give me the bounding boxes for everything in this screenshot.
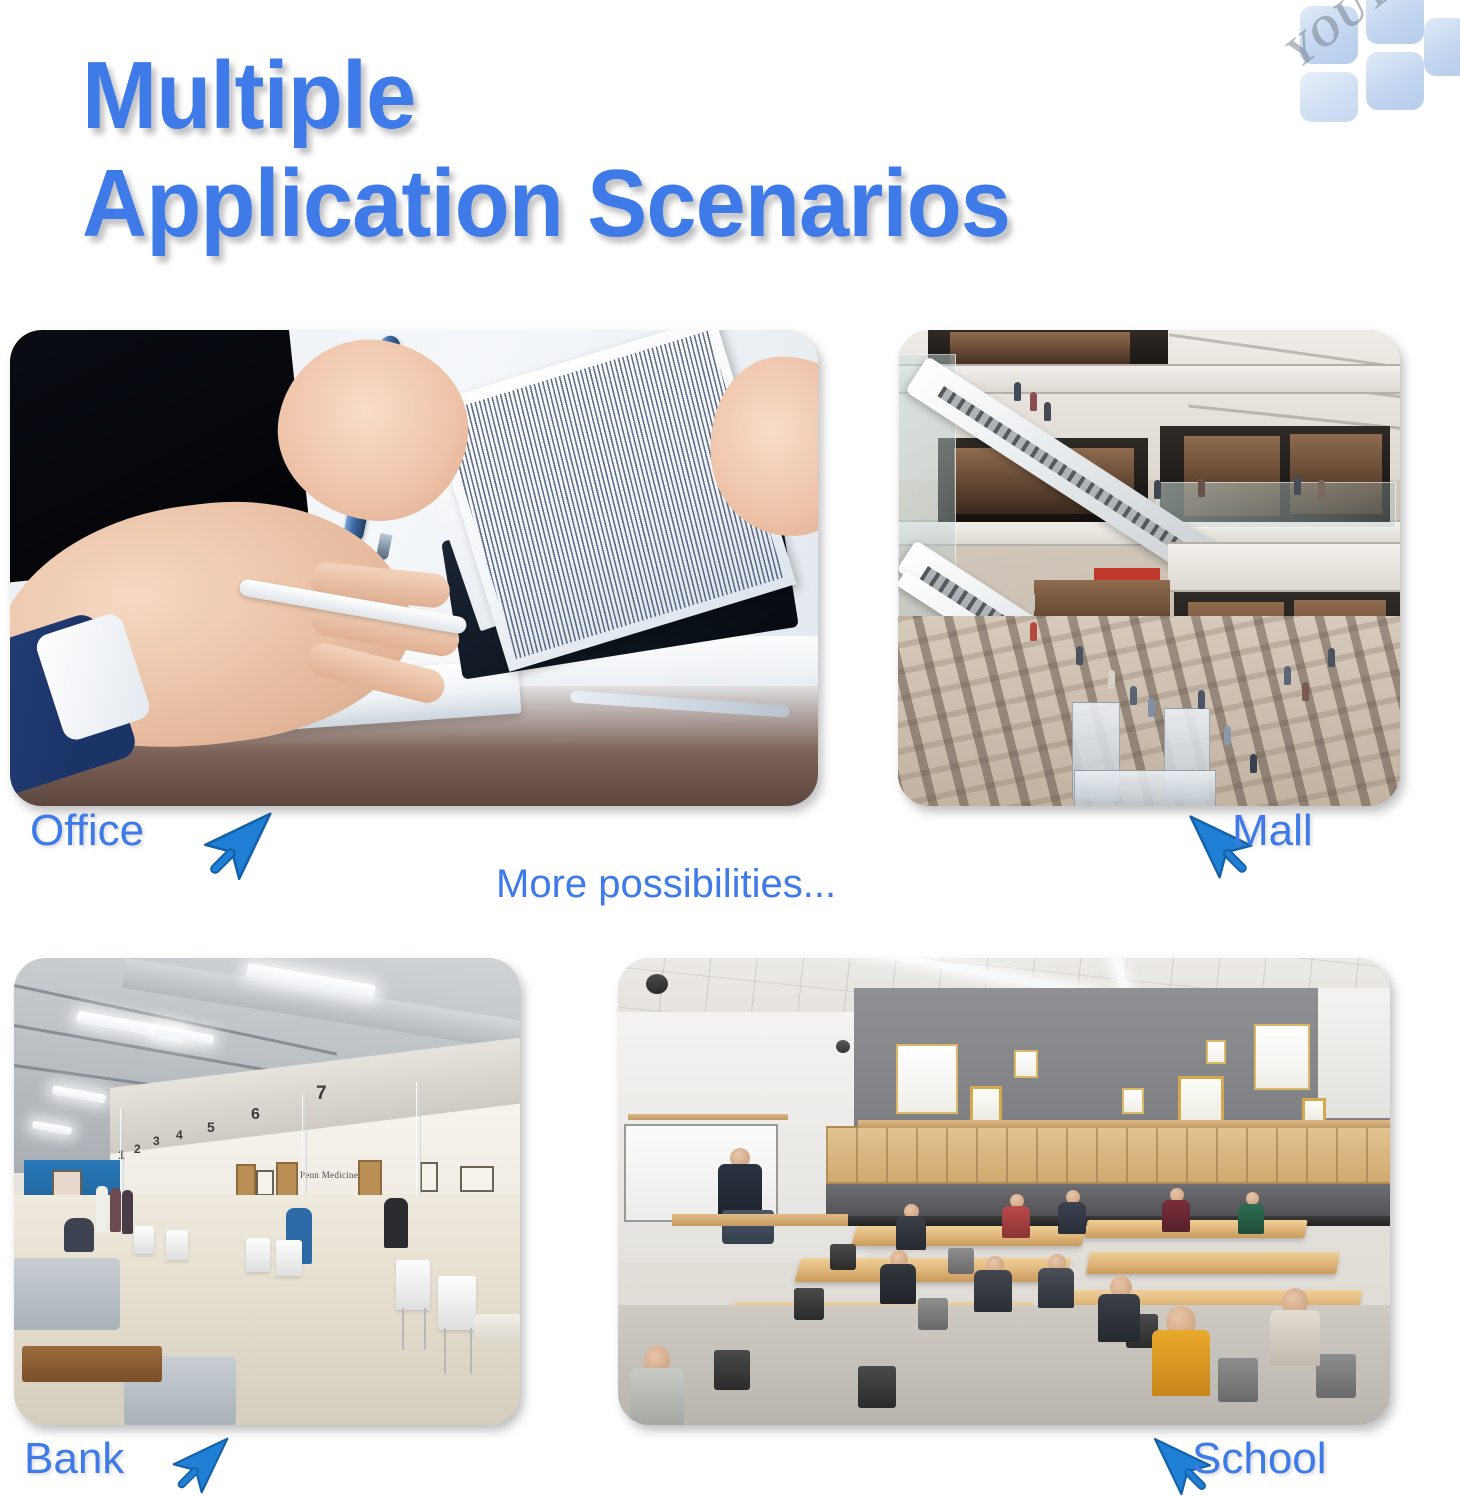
page-title-line-1: Multiple [82,42,1191,150]
tagline: More possibilities... [496,862,836,907]
window-number-3: 3 [153,1134,160,1148]
student [896,1216,926,1250]
page-title-line-2: Application Scenarios [82,150,1191,258]
watermark-square [1366,0,1424,44]
student-chair [918,1298,948,1330]
student-yellow-shirt [1152,1330,1210,1396]
penn-medicine-sign: Penn Medicine [300,1170,358,1180]
lab-table [852,1226,1087,1246]
wall-rail [628,1114,788,1120]
storage-cabinets [826,1126,1390,1186]
scenario-panel-bank[interactable]: 1 2 3 4 5 6 7 Penn Medicine [14,958,520,1425]
shopper [1318,480,1325,499]
scenario-label-office: Office [30,806,144,856]
shopper [1030,392,1037,411]
lounge-sofa [14,1258,120,1330]
wall-artwork [460,1166,494,1192]
cursor-bank [166,1424,242,1500]
wall-light-panel [1014,1050,1038,1078]
student [880,1264,916,1304]
infographic-page: YOUTOP Multiple Application Scenarios [0,0,1460,1500]
window-number-5: 5 [207,1119,215,1135]
waiting-chair [438,1276,476,1330]
bank-customer [122,1190,133,1234]
window-number-4: 4 [176,1128,183,1142]
watermark-square [1300,6,1358,64]
scenario-panel-school[interactable] [618,958,1390,1425]
waiting-chair [396,1260,430,1310]
scenario-label-school: School [1192,1434,1327,1484]
mall-photo [898,330,1400,806]
chair-leg [402,1308,404,1350]
window-number-2: 2 [134,1142,141,1156]
glass-railing-level2 [1156,482,1396,528]
student-chair [1218,1358,1258,1402]
student-chair [948,1248,974,1274]
page-title: Multiple Application Scenarios [82,42,1191,257]
student-chair [714,1350,750,1390]
shopper [1198,690,1205,709]
waiting-chair [166,1230,188,1260]
student [1098,1294,1140,1342]
shopper [1224,726,1231,745]
student [1038,1268,1074,1308]
security-camera [646,974,668,994]
school-photo [618,958,1390,1425]
waiting-chair [276,1240,302,1276]
bank-customer [110,1188,121,1232]
side-table [474,1314,520,1342]
watermark-square [1424,18,1460,76]
window-number-6: 6 [251,1106,260,1124]
student-chair [794,1288,824,1320]
bank-staff [96,1186,108,1232]
cursor-office [196,796,288,888]
watermark-square [1300,72,1358,122]
shopper [1030,622,1037,641]
shopper [1014,382,1021,401]
shopper [1250,754,1257,773]
office-photo [10,330,818,806]
upper-shop-window [950,332,1130,368]
shopper [1076,646,1083,665]
watermark-square [1366,52,1424,110]
security-camera [836,1040,850,1053]
watermark-text: YOUTOP [1277,0,1448,77]
teacher-bench [672,1214,848,1226]
scenario-label-mall: Mall [1232,806,1313,856]
student [1162,1200,1190,1232]
shopper [1130,686,1137,705]
shopper [1154,480,1161,499]
shopper [1294,476,1301,495]
shopper [1148,698,1155,717]
student [630,1368,684,1425]
wall-artwork [420,1162,438,1192]
wall-light-panel [1122,1088,1144,1114]
student [974,1270,1012,1312]
window-panel [896,1044,958,1114]
student-chair [858,1366,896,1408]
coffee-table [22,1346,162,1382]
student [1270,1310,1320,1366]
student [1238,1204,1264,1234]
wall-light-panel [1254,1024,1310,1090]
student [1058,1202,1086,1234]
youtop-watermark: YOUTOP [1300,0,1460,120]
teller [384,1198,408,1248]
chair-leg [424,1308,426,1350]
wall-light-panel [1206,1040,1226,1064]
shopper [1044,402,1051,421]
waiting-chair [246,1238,270,1272]
scenario-panel-mall[interactable] [898,330,1400,806]
chair-leg [470,1328,472,1374]
student-chair [830,1244,856,1270]
scenario-panel-office[interactable] [10,330,818,806]
shopper [1028,592,1035,611]
shopper [1328,648,1335,667]
window-number-7: 7 [316,1083,327,1105]
scenario-label-bank: Bank [24,1434,124,1484]
shopper [1302,682,1309,701]
bank-photo: 1 2 3 4 5 6 7 Penn Medicine [14,958,520,1425]
student-chair [1316,1354,1356,1398]
shopper [1284,666,1291,685]
classroom-upper-right-wall [1318,988,1390,1118]
display-shelf [858,1120,1390,1128]
student [1002,1206,1030,1238]
shopper [1198,478,1205,497]
mall-walkway-right [1168,542,1400,592]
chair-leg [444,1328,446,1374]
shopper [1108,670,1115,689]
seated-customer [64,1218,94,1252]
wall-artwork [256,1170,274,1196]
lab-table [1086,1252,1340,1274]
waiting-chair [134,1226,154,1254]
lab-table [1084,1220,1307,1238]
